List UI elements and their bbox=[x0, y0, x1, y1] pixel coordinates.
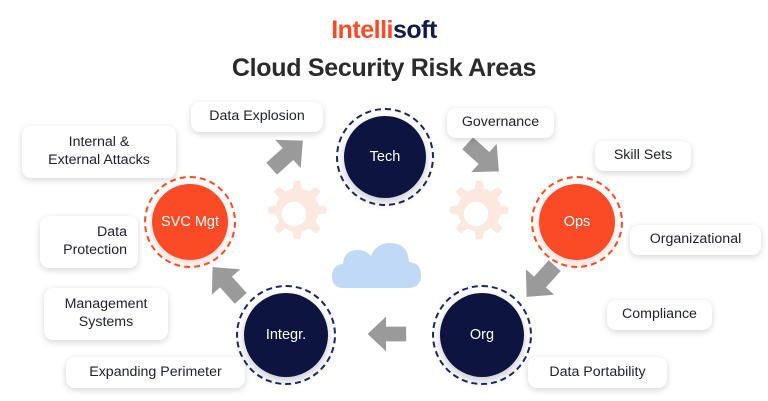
label-text: Organizational bbox=[650, 231, 742, 249]
label-text: Governance bbox=[462, 114, 539, 132]
node-integr[interactable]: Integr. bbox=[244, 293, 328, 377]
label-compliance: Compliance bbox=[607, 300, 712, 330]
arrow-integr-to-svcmgt bbox=[200, 258, 252, 311]
page-title: Cloud Security Risk Areas bbox=[0, 56, 768, 81]
logo-text-primary: Intelli bbox=[331, 16, 393, 44]
label-organizational: Organizational bbox=[630, 225, 761, 255]
label-text: Data Portability bbox=[549, 364, 645, 382]
label-text: Data Protection bbox=[63, 224, 127, 259]
node-label: Integr. bbox=[266, 327, 306, 343]
node-label: Org bbox=[470, 327, 494, 343]
node-label: Ops bbox=[564, 214, 591, 230]
label-text: Data Explosion bbox=[209, 108, 304, 126]
label-text: Compliance bbox=[622, 306, 697, 324]
label-data-protection: Data Protection bbox=[40, 216, 138, 268]
label-text: Skill Sets bbox=[614, 147, 672, 165]
label-text: Internal & External Attacks bbox=[48, 134, 150, 169]
gear-icon bbox=[440, 178, 512, 255]
node-tech[interactable]: Tech bbox=[344, 116, 426, 198]
label-expanding-perimeter: Expanding Perimeter bbox=[66, 357, 245, 388]
label-data-portability: Data Portability bbox=[528, 357, 667, 388]
label-data-explosion: Data Explosion bbox=[191, 102, 323, 132]
label-internal-external-attacks: Internal & External Attacks bbox=[22, 126, 176, 178]
brand-logo: Intellisoft bbox=[0, 18, 768, 43]
label-governance: Governance bbox=[447, 108, 554, 138]
gear-icon bbox=[258, 178, 330, 255]
arrow-ops-to-org bbox=[514, 258, 566, 311]
infographic-canvas: Intellisoft Cloud Security Risk Areas Te… bbox=[0, 0, 768, 401]
node-svc-mgt[interactable]: SVC Mgt bbox=[152, 184, 228, 260]
node-label: Tech bbox=[370, 149, 401, 165]
logo-text-secondary: soft bbox=[393, 16, 437, 44]
arrow-org-to-integr bbox=[362, 312, 410, 361]
cloud-icon bbox=[322, 228, 448, 290]
arrow-svcmgt-to-tech bbox=[262, 130, 314, 183]
node-ops[interactable]: Ops bbox=[539, 184, 615, 260]
label-text: Management Systems bbox=[65, 296, 148, 331]
label-management-systems: Management Systems bbox=[44, 288, 168, 340]
node-org[interactable]: Org bbox=[440, 293, 524, 377]
label-text: Expanding Perimeter bbox=[89, 364, 222, 382]
label-skill-sets: Skill Sets bbox=[595, 141, 691, 171]
node-label: SVC Mgt bbox=[161, 214, 219, 230]
